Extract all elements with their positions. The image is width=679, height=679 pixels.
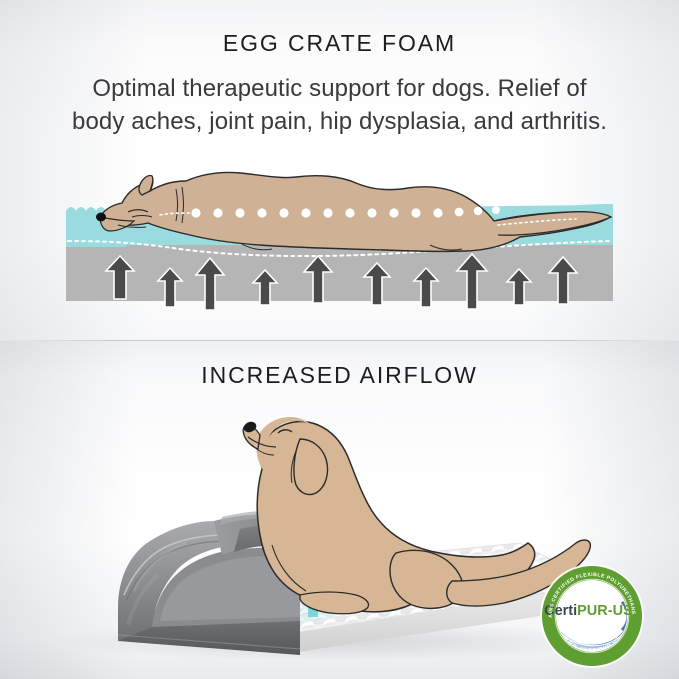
- subtitle-description: Optimal therapeutic support for dogs. Re…: [18, 72, 661, 138]
- illustration-foam-cross-section: [0, 155, 679, 330]
- panel-divider: [0, 340, 679, 341]
- subtitle-line-1: Optimal therapeutic support for dogs. Re…: [18, 72, 661, 105]
- dog-nose: [96, 213, 106, 222]
- page-title-increased-airflow: INCREASED AIRFLOW: [0, 362, 679, 389]
- badge-wordmark-suffix: PUR-US: [577, 603, 633, 619]
- badge-wordmark: CertiPUR-US®: [544, 603, 639, 619]
- certipur-us-badge: CertiPUR-US® CONTAINS CERTIFIED FLEXIBLE…: [538, 562, 646, 670]
- product-infographic: EGG CRATE FOAM Optimal therapeutic suppo…: [0, 0, 679, 679]
- subtitle-line-2: body aches, joint pain, hip dysplasia, a…: [18, 105, 661, 138]
- page-title-egg-crate-foam: EGG CRATE FOAM: [0, 30, 679, 57]
